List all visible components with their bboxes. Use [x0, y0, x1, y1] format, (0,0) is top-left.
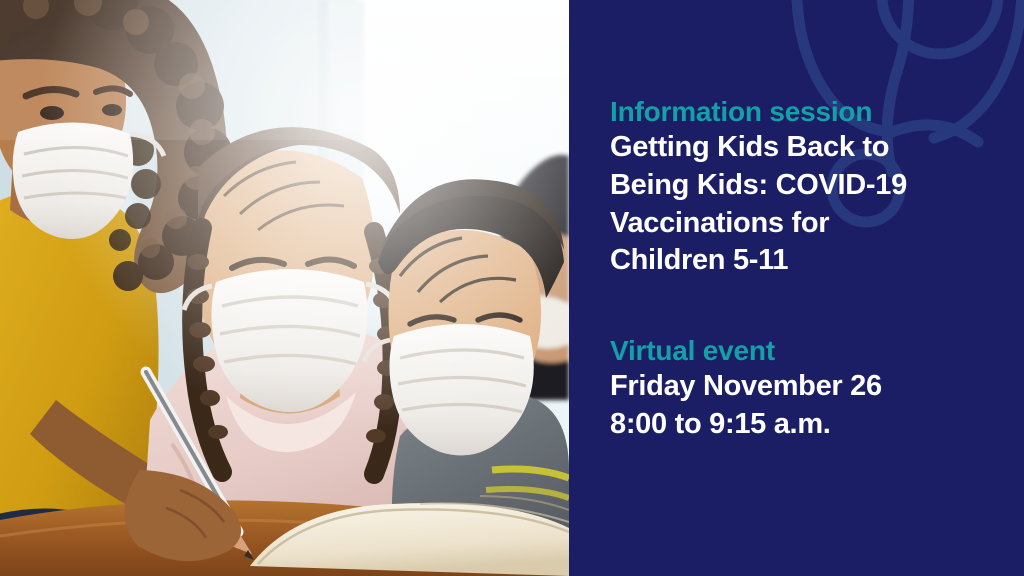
headline-line-4: Children 5-11 — [610, 242, 982, 280]
classroom-photo — [0, 0, 569, 576]
event-poster: Information session Getting Kids Back to… — [0, 0, 1024, 576]
info-panel: Information session Getting Kids Back to… — [569, 0, 1024, 576]
session-type-label: Information session — [610, 96, 1024, 127]
event-format-label: Virtual event — [610, 335, 1024, 366]
event-date: Friday November 26 — [610, 368, 1024, 406]
headline-line-3: Vaccinations for — [610, 205, 982, 243]
headline-line-1: Getting Kids Back to — [610, 129, 982, 167]
section-spacer — [610, 280, 1024, 335]
event-time: 8:00 to 9:15 a.m. — [610, 406, 1024, 444]
event-schedule: Friday November 26 8:00 to 9:15 a.m. — [610, 368, 1024, 443]
info-content: Information session Getting Kids Back to… — [569, 0, 1024, 444]
classroom-photo-illustration — [0, 0, 569, 576]
page-title: Getting Kids Back to Being Kids: COVID-1… — [610, 129, 982, 280]
headline-line-2: Being Kids: COVID-19 — [610, 167, 982, 205]
